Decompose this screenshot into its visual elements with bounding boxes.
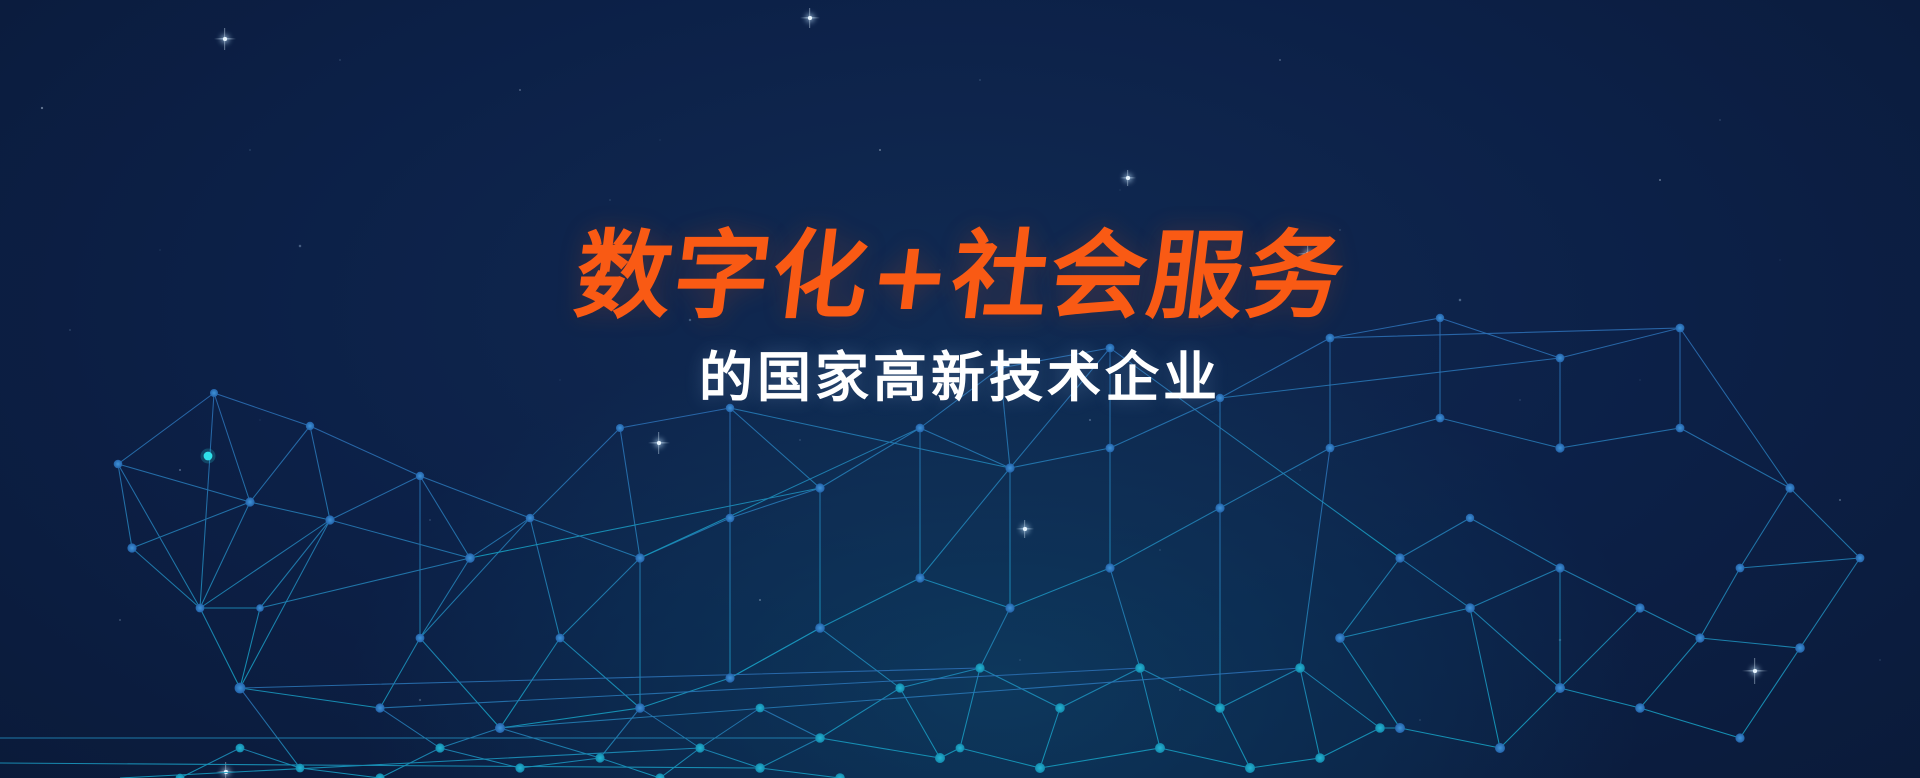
- subheadline: 的国家高新技术企业: [699, 348, 1221, 407]
- hero-text-block: 数字化+社会服务 的国家高新技术企业: [0, 0, 1920, 778]
- hero-banner: 数字化+社会服务 的国家高新技术企业: [0, 0, 1920, 778]
- headline: 数字化+社会服务: [570, 228, 1350, 324]
